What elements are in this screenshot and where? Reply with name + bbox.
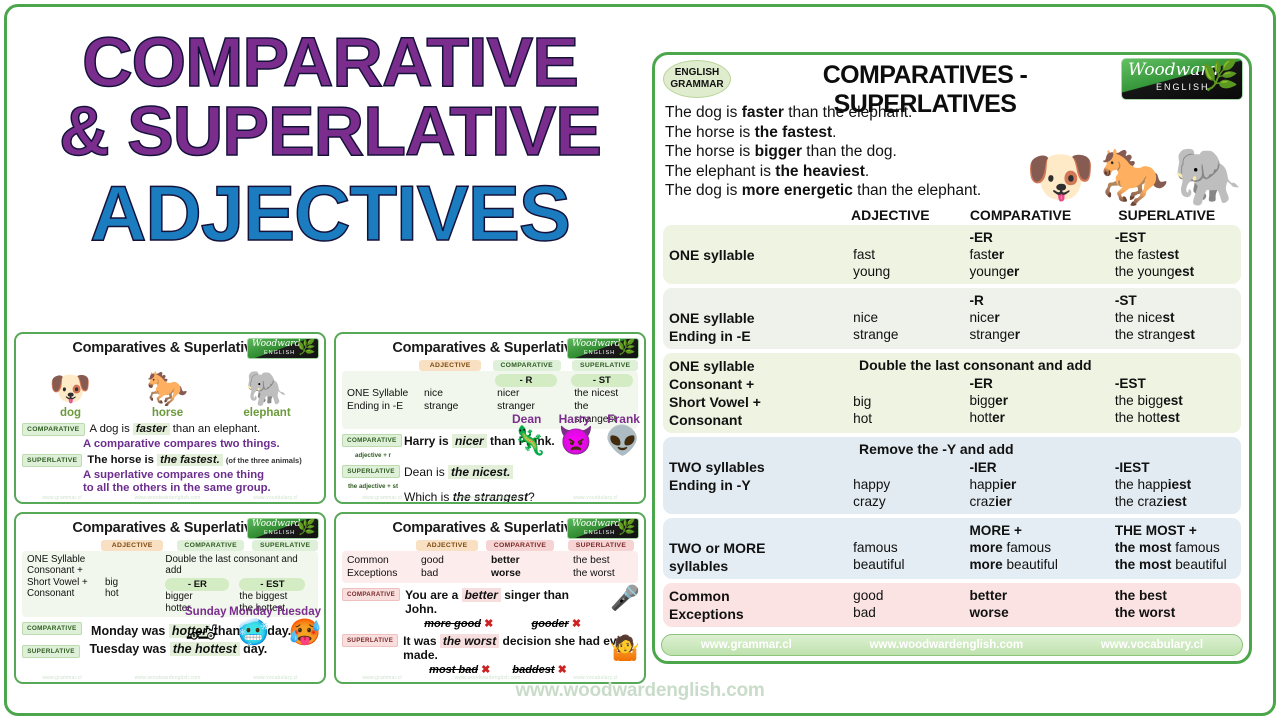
row-superlatives: -ESTthe biggestthe hottest [1115, 357, 1235, 429]
animal-elephant: 🐘 elephant [243, 370, 290, 419]
hot-person-icon: 🥵 [289, 618, 321, 646]
fern-icon: 🌿 [297, 520, 316, 535]
woodward-logo-icon: Woodward ENGLISH 🌿 [1121, 58, 1243, 100]
elephant-icon: 🐘 [243, 370, 290, 408]
adjective-values: goodbad [421, 554, 491, 580]
url-grammar[interactable]: www.grammar.cl [701, 639, 792, 651]
adjective-values: nicestrange [424, 387, 497, 426]
intro-animal-illustrations: 🐶 🐎 🐘 [1013, 99, 1243, 207]
english-grammar-badge: ENGLISH GRAMMAR [663, 60, 731, 98]
mini-table-badges: ADJECTIVE COMPARATIVE SUPERLATIVE [342, 360, 638, 371]
logo-sub: ENGLISH [584, 350, 615, 356]
logo-name: Woodward [252, 339, 300, 349]
row-category: ONE syllableConsonant +Short Vowel +Cons… [669, 357, 853, 429]
superlative-example-1: Dean is the nicest. [404, 465, 513, 479]
superlative-example: The horse is the fastest. (of the three … [87, 454, 301, 466]
superlative-badge: SUPERLATIVE [252, 540, 318, 551]
comparative-badge: COMPARATIVE [342, 434, 402, 447]
row-comparatives: MORE +more famousmore beautiful [969, 522, 1114, 575]
title-line-1: COMPARATIVE [14, 28, 646, 97]
superlative-badge: SUPERLATIVE [22, 645, 80, 658]
intro-examples: The dog is faster than the elephant. The… [655, 103, 1249, 207]
row-category: TWO syllablesEnding in -Y [669, 441, 853, 510]
row-category: CommonExceptions [669, 587, 853, 623]
main-reference-panel: ENGLISH GRAMMAR COMPARATIVES - SUPERLATI… [652, 52, 1252, 664]
row-superlatives: -IESTthe happiestthe craziest [1115, 441, 1235, 510]
table-row: ONE syllableConsonant +Short Vowel +Cons… [663, 353, 1241, 433]
row-comparatives: -Rnicerstranger [969, 292, 1114, 345]
animal-illustrations: 🐶 dog 🐎 horse 🐘 elephant [22, 359, 318, 419]
table-row: TWO syllablesEnding in -Y happycrazy -IE… [663, 437, 1241, 514]
bottom-watermark-url[interactable]: www.woodwardenglish.com [0, 680, 1280, 702]
superlative-badge: SUPERLATIVE [22, 454, 82, 467]
animal-label: dog [49, 407, 91, 419]
woodward-logo-icon: Woodward ENGLISH 🌿 [247, 338, 319, 359]
adjective-values: bighot [105, 554, 165, 614]
superlative-formula: the adjective + st [342, 483, 404, 490]
logo-name: Woodward [252, 519, 300, 529]
row-comparatives: -ERfasteryounger [969, 229, 1114, 280]
comparative-example: A dog is faster than an elephant. [90, 423, 261, 435]
adjective-badge: ADJECTIVE [419, 360, 481, 371]
url-grammar[interactable]: www.grammar.cl [362, 495, 401, 501]
logo-sub: ENGLISH [264, 350, 295, 356]
logo-name: Woodward [572, 519, 620, 529]
fern-icon: 🌿 [297, 340, 316, 355]
comparative-badge: COMPARATIVE [22, 423, 85, 436]
category-label: ONE SyllableConsonant +Short Vowel +Cons… [27, 554, 105, 614]
wrong-form: gooder ✖ [531, 617, 581, 630]
superlative-rule-pill: - EST [239, 578, 305, 591]
mini-card-urls: www.grammar.cl www.woodwardenglish.com w… [16, 495, 324, 501]
category-label: CommonExceptions [347, 554, 421, 580]
url-vocabulary[interactable]: www.vocabulary.cl [573, 495, 617, 501]
wrong-form: more good ✖ [424, 617, 493, 630]
woodward-logo-icon: Woodward ENGLISH 🌿 [567, 338, 639, 359]
fern-icon: 🌿 [617, 520, 636, 535]
badge-line-2: GRAMMAR [670, 79, 723, 91]
row-adjectives: famousbeautiful [853, 522, 969, 575]
cross-icon: ✖ [572, 618, 581, 630]
character-name-dean: Dean [512, 412, 541, 426]
comparative-explanation: A comparative compares two things. [83, 438, 318, 450]
cross-icon: ✖ [484, 618, 493, 630]
category-label: ONE SyllableEnding in -E [347, 387, 424, 426]
url-vocabulary[interactable]: www.vocabulary.cl [253, 495, 297, 501]
horse-icon: 🐎 [1100, 147, 1170, 207]
row-superlatives: THE MOST +the most famousthe most beauti… [1115, 522, 1235, 575]
row-wide-rule: Double the last consonant and add [859, 357, 1092, 373]
column-header-superlative: SUPERLATIVE [1118, 207, 1241, 223]
title-line-2: & SUPERLATIVE [14, 97, 646, 166]
superlative-badge: SUPERLATIVE [568, 540, 634, 551]
superlative-example: It was the worst decision she had ever m… [403, 634, 633, 662]
fern-icon: 🌿 [1202, 60, 1239, 92]
logo-sub: ENGLISH [584, 530, 615, 536]
url-woodwardenglish[interactable]: www.woodwardenglish.com [135, 495, 201, 501]
mini-table-badges: ADJECTIVE COMPARATIVE SUPERLATIVE [342, 540, 638, 551]
mini-card-rows: COMPARATIVE A dog is faster than an elep… [22, 423, 318, 495]
logo-sub: ENGLISH [264, 530, 295, 536]
page-title: COMPARATIVE & SUPERLATIVE ADJECTIVES [14, 14, 646, 252]
table-row: CommonExceptions goodbad betterworse the… [663, 583, 1241, 627]
character-name-frank: Frank [607, 412, 640, 426]
comparative-rule-pill: - R [495, 374, 557, 387]
table-row: TWO or MOREsyllables famousbeautiful MOR… [663, 518, 1241, 579]
superlative-rule-pill: - ST [571, 374, 633, 387]
mini-card-ending-in-e[interactable]: Comparatives & Superlatives Woodward ENG… [334, 332, 646, 504]
column-header-adjective: ADJECTIVE [851, 207, 970, 223]
table-row: ONE syllable fastyoung -ERfasteryounger … [663, 225, 1241, 284]
mini-card-exceptions[interactable]: Comparatives & Superlatives Woodward ENG… [334, 512, 646, 684]
horse-icon: 🐎 [146, 370, 188, 408]
row-adjectives: nicestrange [853, 292, 969, 345]
comparative-example: You are a better singer than John. [405, 588, 600, 616]
comparative-badge: COMPARATIVE [493, 360, 561, 371]
singer-icon: 🎤 [610, 586, 640, 612]
comparative-badge: COMPARATIVE [342, 588, 400, 601]
comparative-badge: COMPARATIVE [486, 540, 554, 551]
mini-card-urls: www.grammar.cl www.woodwardenglish.com w… [336, 495, 644, 501]
woodward-logo-icon: Woodward ENGLISH 🌿 [247, 518, 319, 539]
animal-label: horse [146, 407, 188, 419]
monster-icon: 👿 [559, 426, 594, 456]
woodward-logo-icon: Woodward ENGLISH 🌿 [567, 518, 639, 539]
mini-card-basics[interactable]: Comparatives & Superlatives Woodward ENG… [14, 332, 326, 504]
cold-person-icon: 🥶 [237, 618, 269, 646]
row-superlatives: -ESTthe fastestthe youngest [1115, 229, 1235, 280]
animal-horse: 🐎 horse [146, 370, 188, 419]
url-woodwardenglish[interactable]: www.woodwardenglish.com [870, 639, 1024, 651]
row-comparatives: betterworse [969, 587, 1114, 623]
row-category: TWO or MOREsyllables [669, 522, 853, 575]
url-grammar[interactable]: www.grammar.cl [42, 495, 81, 501]
monster-icon: 👽 [605, 426, 640, 456]
row-category: ONE syllableEnding in -E [669, 292, 853, 345]
logo-name: Woodward [572, 339, 620, 349]
table-row: ONE syllableEnding in -E nicestrange -Rn… [663, 288, 1241, 349]
url-woodwardenglish[interactable]: www.woodwardenglish.com [455, 495, 521, 501]
comparative-values: betterworse [491, 554, 573, 580]
dog-icon: 🐶 [1026, 147, 1096, 207]
dog-icon: 🐶 [49, 370, 91, 408]
title-line-3: ADJECTIVES [14, 175, 646, 251]
adjective-badge: ADJECTIVE [101, 540, 163, 551]
superlative-values: the bestthe worst [573, 554, 615, 580]
panel-footer-urls: www.grammar.cl www.woodwardenglish.com w… [661, 634, 1243, 656]
row-superlatives: the bestthe worst [1115, 587, 1235, 623]
comparative-formula: adjective + r [342, 452, 404, 459]
superlative-badge: SUPERLATIVE [342, 465, 400, 478]
fern-icon: 🌿 [617, 340, 636, 355]
rules-table: ADJECTIVE COMPARATIVE SUPERLATIVE ONE sy… [655, 207, 1249, 627]
monster-icon: 🦎 [512, 426, 547, 456]
url-vocabulary[interactable]: www.vocabulary.cl [1101, 639, 1203, 651]
row-adjectives: goodbad [853, 587, 969, 623]
comparative-rule-pill: - ER [165, 578, 229, 591]
adjective-badge: ADJECTIVE [416, 540, 478, 551]
row-superlatives: -STthe nicestthe strangest [1115, 292, 1235, 345]
superlative-explanation: A superlative compares one thing to all … [83, 469, 318, 495]
beach-person-icon: 🏎 [185, 618, 218, 646]
badge-line-1: ENGLISH [675, 67, 719, 79]
comparative-badge: COMPARATIVE [22, 622, 82, 635]
row-category: ONE syllable [669, 229, 853, 280]
superlative-badge: SUPERLATIVE [572, 360, 638, 371]
column-header-comparative: COMPARATIVE [970, 207, 1118, 223]
row-adjectives: fastyoung [853, 229, 969, 280]
mini-table-body: CommonExceptions goodbad betterworse the… [342, 551, 638, 583]
panel-header: ENGLISH GRAMMAR COMPARATIVES - SUPERLATI… [655, 55, 1249, 103]
mini-card-grid: Comparatives & Superlatives Woodward ENG… [14, 332, 646, 684]
elephant-icon: 🐘 [1173, 147, 1243, 207]
left-column: COMPARATIVE & SUPERLATIVE ADJECTIVES Com… [14, 14, 646, 686]
table-header-row: ADJECTIVE COMPARATIVE SUPERLATIVE [663, 207, 1241, 225]
row-wide-rule: Remove the -Y and add [859, 441, 1014, 457]
superlative-badge: SUPERLATIVE [342, 634, 398, 647]
animal-label: elephant [243, 407, 290, 419]
mini-table-badges: ADJECTIVE COMPARATIVE SUPERLATIVE [22, 540, 318, 551]
comparative-badge: COMPARATIVE [177, 540, 245, 551]
wide-rule: Double the last consonant and add [165, 554, 297, 576]
regret-icon: 🤷 [610, 636, 640, 662]
character-name-harry: Harry [559, 412, 590, 426]
mini-card-double-consonant[interactable]: Comparatives & Superlatives Woodward ENG… [14, 512, 326, 684]
animal-dog: 🐶 dog [49, 370, 91, 419]
